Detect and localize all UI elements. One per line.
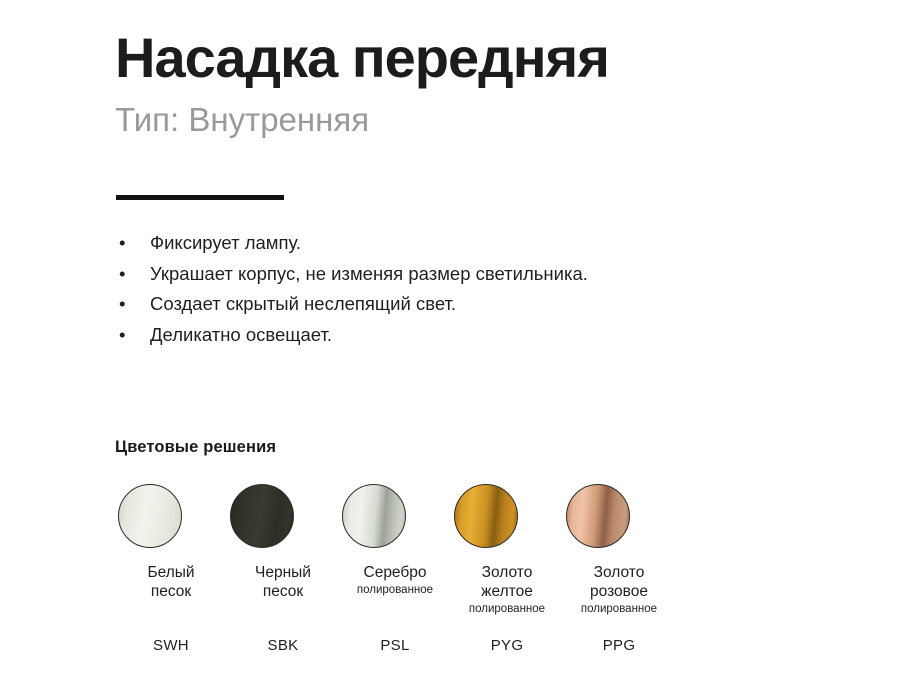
swatch-circle-icon[interactable] [118,484,182,548]
page-title: Насадка передняя [115,28,875,88]
color-code-row: SWH SBK PSL PYG PPG [115,625,855,654]
feature-text: Деликатно освещает. [150,324,332,345]
swatch-name-line1: Золото [563,563,675,582]
header: Насадка передняя Тип: Внутренняя [115,28,875,139]
swatch-name-finish: полированное [339,582,451,598]
swatch-name-line1: Черный [227,563,339,582]
swatch-name-line2: розовое [563,582,675,601]
list-item: • Деликатно освещает. [115,320,855,351]
color-swatch-ppg[interactable] [563,484,675,548]
swatch-circle-icon[interactable] [566,484,630,548]
swatch-circle-icon[interactable] [230,484,294,548]
swatch-label-sbk: Черный песок [227,563,339,601]
color-swatch-swh[interactable] [115,484,227,548]
list-item: • Украшает корпус, не изменяя размер све… [115,259,855,290]
swatch-circle-icon[interactable] [342,484,406,548]
color-swatch-row [115,484,855,548]
color-caption-row: Белый песок Черный песок Серебро полиров… [115,548,855,617]
color-swatch-pyg[interactable] [451,484,563,548]
swatch-label-swh: Белый песок [115,563,227,601]
bullet-icon: • [119,228,125,259]
feature-text: Создает скрытый неслепящий свет. [150,293,456,314]
color-swatch-psl[interactable] [339,484,451,548]
swatch-name-line2: песок [227,582,339,601]
color-options-section: Цветовые решения Белый песок [115,438,855,654]
slide-page: Насадка передняя Тип: Внутренняя • Фикси… [0,0,900,700]
swatch-name-line2: желтое [451,582,563,601]
section-divider [116,195,284,200]
color-swatch-sbk[interactable] [227,484,339,548]
bullet-icon: • [119,320,125,351]
bullet-icon: • [119,289,125,320]
swatch-label-pyg: Золото желтое полированное [451,563,563,617]
list-item: • Фиксирует лампу. [115,228,855,259]
feature-text: Украшает корпус, не изменяя размер свети… [150,263,588,284]
bullet-icon: • [119,259,125,290]
color-options-heading: Цветовые решения [115,438,855,457]
swatch-code-swh: SWH [115,637,227,654]
swatch-code-pyg: PYG [451,637,563,654]
swatch-label-ppg: Золото розовое полированное [563,563,675,617]
feature-list: • Фиксирует лампу. • Украшает корпус, не… [115,228,855,350]
swatch-name-finish: полированное [563,601,675,617]
swatch-code-ppg: PPG [563,637,675,654]
swatch-name-line2: песок [115,582,227,601]
swatch-name-line1: Золото [451,563,563,582]
feature-text: Фиксирует лампу. [150,232,301,253]
swatch-circle-icon[interactable] [454,484,518,548]
swatch-name-finish: полированное [451,601,563,617]
page-subtitle: Тип: Внутренняя [115,101,875,139]
swatch-name-line1: Серебро [339,563,451,582]
list-item: • Создает скрытый неслепящий свет. [115,289,855,320]
swatch-code-psl: PSL [339,637,451,654]
swatch-label-psl: Серебро полированное [339,563,451,598]
swatch-name-line1: Белый [115,563,227,582]
swatch-code-sbk: SBK [227,637,339,654]
